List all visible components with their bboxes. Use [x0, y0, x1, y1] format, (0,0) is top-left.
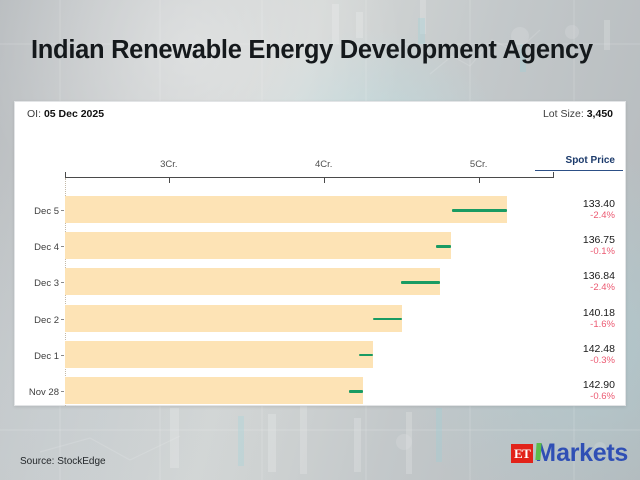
chart-row[interactable]: Dec 5133.40-2.4% — [15, 196, 627, 224]
y-axis-category-label: Dec 2 — [15, 315, 59, 326]
oi-label: OI: — [27, 108, 41, 120]
et-logo-badge: ET — [511, 444, 533, 463]
oi-chart-plot: Spot Price 3Cr.4Cr.5Cr. Dec 5133.40-2.4%… — [15, 126, 627, 407]
oi-change-marker — [436, 245, 451, 248]
spot-price-value: 136.84 — [583, 270, 615, 282]
et-markets-logo: ET M arkets — [511, 440, 628, 466]
lot-size-label: Lot Size: 3,450 — [543, 108, 613, 120]
spot-price-cell: 142.90-0.6% — [583, 379, 615, 403]
x-axis-tick — [324, 177, 325, 183]
oi-bar[interactable] — [65, 232, 451, 259]
y-axis-tick — [61, 210, 64, 211]
oi-change-marker — [373, 318, 402, 321]
spot-price-value: 142.90 — [583, 379, 615, 391]
spot-price-cell: 133.40-2.4% — [583, 198, 615, 222]
x-axis-end-cap-left — [65, 172, 66, 178]
markets-logo-text: arkets — [556, 441, 628, 466]
chart-row[interactable]: Dec 4136.75-0.1% — [15, 232, 627, 260]
x-axis-tick-label: 4Cr. — [315, 159, 332, 170]
chart-card: OI: 05 Dec 2025 Lot Size: 3,450 Spot Pri… — [14, 101, 626, 406]
spot-price-change: -0.6% — [583, 391, 615, 403]
oi-change-marker — [401, 281, 440, 284]
x-axis-line — [65, 177, 553, 178]
spot-price-value: 140.18 — [583, 307, 615, 319]
spot-price-value: 142.48 — [583, 343, 615, 355]
oi-bar[interactable] — [65, 377, 363, 404]
y-axis-tick — [61, 355, 64, 356]
oi-date-value: 05 Dec 2025 — [44, 108, 104, 120]
card-header: OI: 05 Dec 2025 Lot Size: 3,450 — [15, 102, 625, 126]
x-axis-tick — [479, 177, 480, 183]
oi-bar[interactable] — [65, 341, 373, 368]
oi-bar[interactable] — [65, 305, 402, 332]
y-axis-tick — [61, 319, 64, 320]
chart-row[interactable]: Dec 2140.18-1.6% — [15, 305, 627, 333]
y-axis-tick — [61, 391, 64, 392]
source-label: Source: StockEdge — [20, 456, 106, 467]
page-title: Indian Renewable Energy Development Agen… — [31, 36, 593, 65]
spot-price-change: -2.4% — [583, 210, 615, 222]
spot-price-change: -0.1% — [583, 246, 615, 258]
spot-price-column-header: Spot Price — [566, 155, 615, 166]
oi-change-marker — [452, 209, 507, 212]
y-axis-category-label: Dec 5 — [15, 206, 59, 217]
spot-price-change: -2.4% — [583, 282, 615, 294]
oi-change-marker — [359, 354, 373, 357]
spot-price-cell: 136.75-0.1% — [583, 234, 615, 258]
oi-bar[interactable] — [65, 268, 440, 295]
y-axis-tick — [61, 246, 64, 247]
oi-bar[interactable] — [65, 196, 507, 223]
chart-row[interactable]: Dec 1142.48-0.3% — [15, 341, 627, 369]
y-axis-category-label: Dec 3 — [15, 278, 59, 289]
x-axis-end-cap-right — [553, 172, 554, 178]
spot-price-change: -1.6% — [583, 319, 615, 331]
spot-price-cell: 140.18-1.6% — [583, 307, 615, 331]
spot-price-change: -0.3% — [583, 355, 615, 367]
chart-row[interactable]: Dec 3136.84-2.4% — [15, 268, 627, 296]
y-axis-category-label: Dec 1 — [15, 351, 59, 362]
x-axis-tick-label: 3Cr. — [160, 159, 177, 170]
lot-size-text: Lot Size: — [543, 108, 584, 120]
y-axis-category-label: Nov 28 — [15, 387, 59, 398]
spot-price-value: 136.75 — [583, 234, 615, 246]
spot-price-divider — [535, 170, 623, 171]
chart-row[interactable]: Nov 28142.90-0.6% — [15, 377, 627, 405]
x-axis-tick-label: 5Cr. — [470, 159, 487, 170]
spot-price-value: 133.40 — [583, 198, 615, 210]
spot-price-cell: 142.48-0.3% — [583, 343, 615, 367]
markets-logo-m: M — [535, 441, 556, 466]
y-axis-category-label: Dec 4 — [15, 242, 59, 253]
lot-size-value: 3,450 — [587, 108, 613, 120]
y-axis-tick — [61, 282, 64, 283]
oi-date-label: OI: 05 Dec 2025 — [27, 108, 104, 120]
oi-change-marker — [349, 390, 363, 393]
x-axis-tick — [169, 177, 170, 183]
spot-price-cell: 136.84-2.4% — [583, 270, 615, 294]
